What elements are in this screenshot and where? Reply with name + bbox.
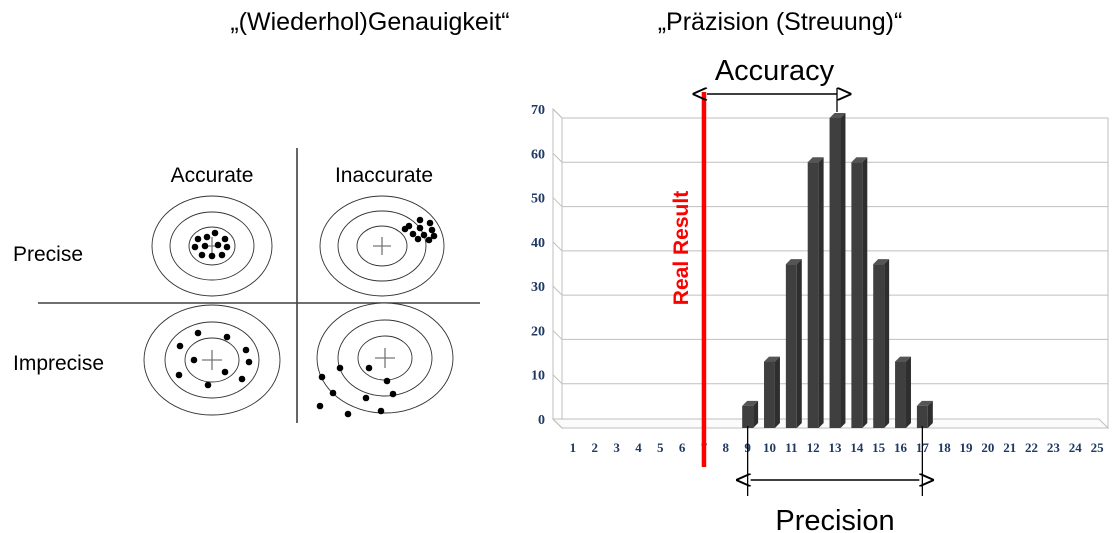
row-label-precise: Precise [13, 243, 83, 266]
x-axis-tick-labels: 1234567891011121314151617181920212223242… [570, 440, 1104, 455]
x-tick-label: 11 [785, 440, 797, 455]
bar [895, 357, 911, 428]
slide-root: „(Wiederhol)Genauigkeit“ „Präzision (Str… [0, 0, 1120, 533]
row-label-imprecise: Imprecise [13, 352, 104, 375]
x-tick-label: 14 [850, 440, 864, 455]
column-label-inaccurate: Inaccurate [335, 164, 433, 187]
column-label-accurate: Accurate [171, 164, 254, 187]
x-tick-label: 23 [1047, 440, 1061, 455]
y-axis-tick-labels: 010203040506070 [531, 103, 545, 428]
target-accurate-imprecise [144, 305, 280, 415]
x-tick-label: 5 [657, 440, 664, 455]
target-quadrant-diagram: Accurate Inaccurate Precise Imprecise [0, 140, 500, 440]
x-tick-label: 18 [938, 440, 952, 455]
y-tick-label: 70 [531, 103, 545, 118]
target-inaccurate-imprecise [317, 303, 453, 417]
x-tick-label: 22 [1025, 440, 1038, 455]
x-tick-label: 24 [1069, 440, 1083, 455]
x-tick-label: 13 [829, 440, 843, 455]
bar [851, 157, 867, 428]
bar [808, 157, 824, 428]
x-tick-label: 1 [570, 440, 577, 455]
precision-label: Precision [775, 505, 894, 533]
real-result-label: Real Result [670, 191, 693, 305]
bar [742, 401, 758, 428]
x-tick-label: 4 [635, 440, 642, 455]
x-tick-label: 16 [894, 440, 908, 455]
y-tick-label: 30 [531, 280, 545, 295]
x-tick-label: 10 [763, 440, 776, 455]
accuracy-label: Accuracy [715, 55, 835, 87]
x-tick-label: 6 [679, 440, 686, 455]
bar [786, 259, 802, 428]
target-inaccurate-precise [320, 196, 444, 296]
y-tick-label: 60 [531, 147, 545, 162]
bar [917, 401, 933, 428]
x-tick-label: 19 [960, 440, 974, 455]
x-tick-label: 8 [723, 440, 730, 455]
y-tick-label: 10 [531, 369, 545, 384]
x-tick-label: 12 [807, 440, 820, 455]
x-tick-label: 15 [872, 440, 886, 455]
y-tick-label: 0 [538, 413, 545, 428]
bar [830, 113, 846, 428]
bar [873, 259, 889, 428]
x-tick-label: 20 [981, 440, 994, 455]
y-tick-label: 50 [531, 192, 545, 207]
target-accurate-precise [152, 196, 272, 296]
y-tick-label: 20 [531, 324, 545, 339]
x-tick-label: 3 [613, 440, 620, 455]
y-tick-label: 40 [531, 236, 545, 251]
x-tick-label: 25 [1091, 440, 1105, 455]
x-tick-label: 21 [1003, 440, 1016, 455]
accuracy-annotation: Accuracy [707, 55, 837, 112]
heading-precision-german: „Präzision (Streuung)“ [580, 8, 980, 37]
bar [764, 357, 780, 428]
x-tick-label: 2 [592, 440, 599, 455]
heading-accuracy-german: „(Wiederhol)Genauigkeit“ [120, 8, 620, 37]
precision-histogram-chart: 010203040506070 123456789101112131415161… [505, 55, 1120, 533]
